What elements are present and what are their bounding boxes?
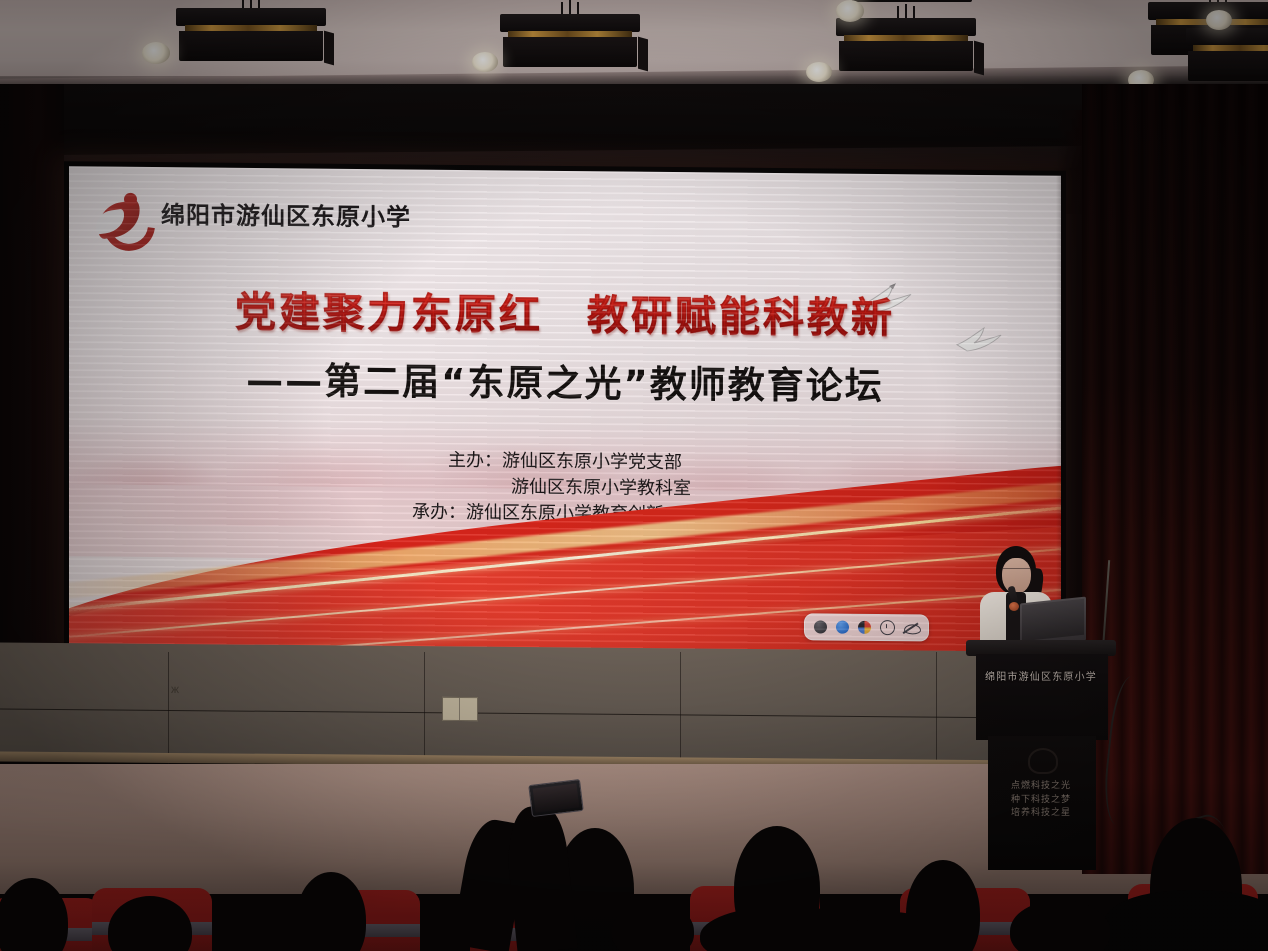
podium-motto-line: 培养科技之星	[1011, 808, 1071, 818]
laser-pointer-icon[interactable]	[836, 621, 849, 634]
audience-filming-phone	[452, 770, 602, 951]
presentation-toolbar[interactable]	[804, 613, 929, 641]
podium-motto-line: 种下科技之梦	[1011, 795, 1071, 805]
podium-motto-line: 点燃科技之光	[1011, 781, 1071, 791]
slide-sub-title: ——第二届“东原之光”教师教育论坛	[69, 348, 1061, 412]
glasses-icon	[1003, 568, 1030, 576]
audience-head	[1010, 900, 1110, 951]
presentation-slide: 绵阳市游仙区东原小学 党建聚力东原红 教研赋能科教新 ——第二届“东原之光”教师…	[69, 166, 1061, 654]
wall-panel-seam	[424, 652, 425, 764]
raised-arm	[503, 803, 578, 951]
microphone-tip	[1009, 602, 1019, 611]
wall-panel-seam	[936, 652, 937, 764]
phone-screen	[533, 783, 580, 812]
pen-icon[interactable]	[814, 620, 827, 633]
downlight	[806, 62, 832, 82]
auditorium-photo: 绵阳市游仙区东原小学 党建聚力东原红 教研赋能科教新 ——第二届“东原之光”教师…	[0, 0, 1268, 951]
led-screen-frame: 绵阳市游仙区东原小学 党建聚力东原红 教研赋能科教新 ——第二届“东原之光”教师…	[64, 161, 1066, 659]
highlighter-color-icon[interactable]	[858, 621, 871, 634]
downlight	[836, 0, 864, 22]
speaker-face	[1002, 558, 1031, 594]
phone-icon	[528, 779, 584, 817]
curtain-shadow-edge	[1056, 110, 1082, 670]
audience-shoulders	[1104, 890, 1268, 951]
podium-name-plate: 绵阳市游仙区东原小学	[966, 668, 1116, 683]
hide-pointer-icon[interactable]	[904, 621, 919, 634]
downlight	[472, 52, 498, 72]
downlight	[1206, 10, 1232, 30]
wall-power-outlet	[442, 697, 478, 721]
left-stage-masking	[0, 84, 64, 684]
laptop-screen	[1022, 599, 1084, 642]
podium-front-panel	[976, 654, 1108, 740]
wall-panel-seam	[680, 652, 681, 764]
timer-icon[interactable]	[880, 620, 895, 635]
podium: 绵阳市游仙区东原小学 点燃科技之光 种下科技之梦 培养科技之星	[966, 640, 1116, 870]
wall-scuff-mark: ж	[171, 682, 183, 696]
school-logo-icon	[95, 188, 153, 239]
downlight	[142, 42, 170, 64]
audience-head	[612, 902, 694, 951]
slide-main-title: 党建聚力东原红 教研赋能科教新	[69, 276, 1061, 346]
podium-emblem-icon	[1028, 748, 1058, 774]
podium-motto: 点燃科技之光 种下科技之梦 培养科技之星	[966, 780, 1116, 821]
slide-school-name: 绵阳市游仙区东原小学	[161, 195, 411, 232]
wall-panel-seam	[168, 652, 169, 764]
